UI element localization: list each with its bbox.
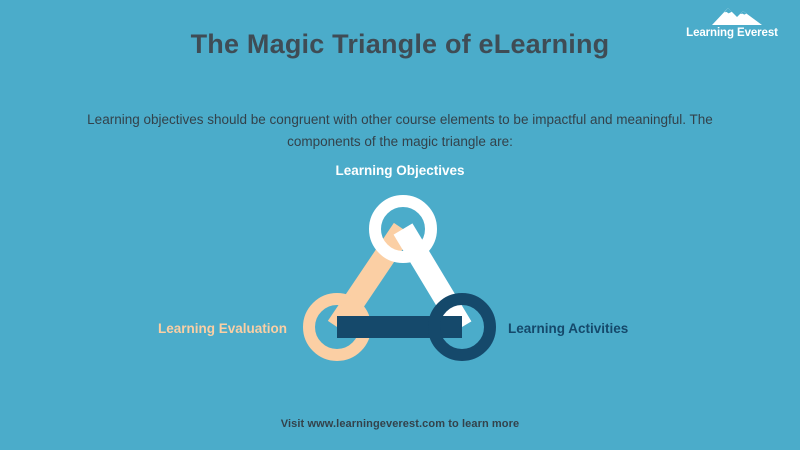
connector-evaluation-to-objectives xyxy=(337,229,403,327)
page-title: The Magic Triangle of eLearning xyxy=(120,28,680,61)
brand-name: Learning Everest xyxy=(676,27,788,40)
mountain-icon xyxy=(710,6,764,25)
node-label-objectives: Learning Objectives xyxy=(0,163,800,178)
node-label-activities: Learning Activities xyxy=(508,321,628,336)
magic-triangle-diagram xyxy=(0,150,800,390)
brand-logo[interactable]: Learning Everest xyxy=(676,6,788,40)
node-label-evaluation: Learning Evaluation xyxy=(158,321,287,336)
infographic-canvas: Learning Everest The Magic Triangle of e… xyxy=(0,0,800,450)
intro-paragraph: Learning objectives should be congruent … xyxy=(55,109,745,153)
footer-link[interactable]: Visit www.learningeverest.com to learn m… xyxy=(0,418,800,430)
